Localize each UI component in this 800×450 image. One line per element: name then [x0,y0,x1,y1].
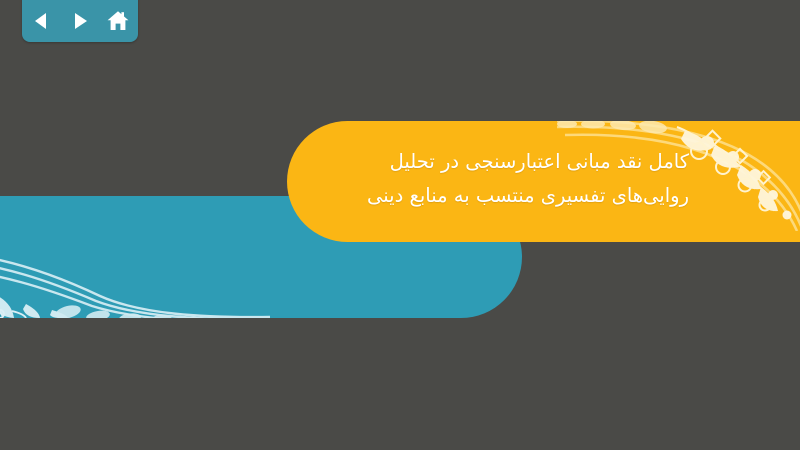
slide-canvas: کامل نقد مبانی اعتبارسنجی در تحلیل روایی… [0,0,800,450]
slide-title-line-2: روایی‌های تفسیری منتسب به منابع دینی [309,179,689,213]
house-icon [106,9,130,33]
next-slide-button[interactable] [66,7,94,35]
triangle-right-icon [69,10,91,32]
triangle-left-icon [31,10,53,32]
slide-title: کامل نقد مبانی اعتبارسنجی در تحلیل روایی… [309,145,689,212]
slide-title-line-1: کامل نقد مبانی اعتبارسنجی در تحلیل [309,145,689,179]
previous-slide-button[interactable] [28,7,56,35]
navigation-toolbar[interactable] [22,0,138,42]
orange-title-panel: کامل نقد مبانی اعتبارسنجی در تحلیل روایی… [287,121,800,242]
home-button[interactable] [104,7,132,35]
arabesque-corner-ornament [0,198,270,318]
